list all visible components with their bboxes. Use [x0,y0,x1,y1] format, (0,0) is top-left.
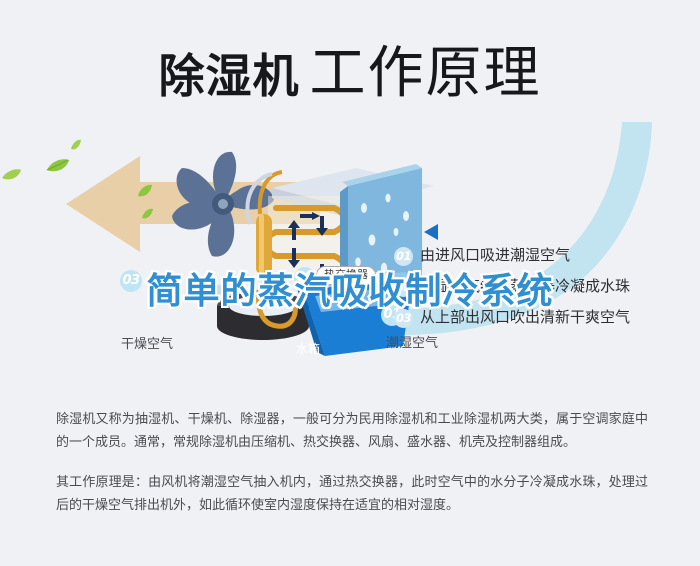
title-main: 除湿机 [159,49,300,103]
page-title: 除湿机工作原理 [0,28,700,109]
body-copy: 除湿机又称为抽湿机、干燥机、除湿器，一般可分为民用除湿机和工业除湿机两大类，属于… [56,408,648,517]
leaf-icon [46,158,70,174]
leaf-icon [2,168,22,182]
label-dry-air: 干燥空气 [121,333,173,352]
intake-arrow-icon [424,224,438,240]
body-paragraph-1: 除湿机又称为抽湿机、干燥机、除湿器，一般可分为民用除湿机和工业除湿机两大类，属于… [56,408,648,454]
label-water-tank: 水箱 [296,340,320,357]
overlay-banner-text: 简单的蒸汽吸收制冷系统 [0,262,700,314]
title-sub: 工作原理 [310,41,542,106]
body-paragraph-2: 其工作原理是：由风机将潮湿空气抽入机内，通过热交换器，此时空气中的水分子冷凝成水… [56,471,648,517]
page-root: 除湿机工作原理 [0,0,700,566]
leaf-icon [70,139,82,151]
leaf-icon [137,184,153,198]
leaf-icon [141,208,154,220]
